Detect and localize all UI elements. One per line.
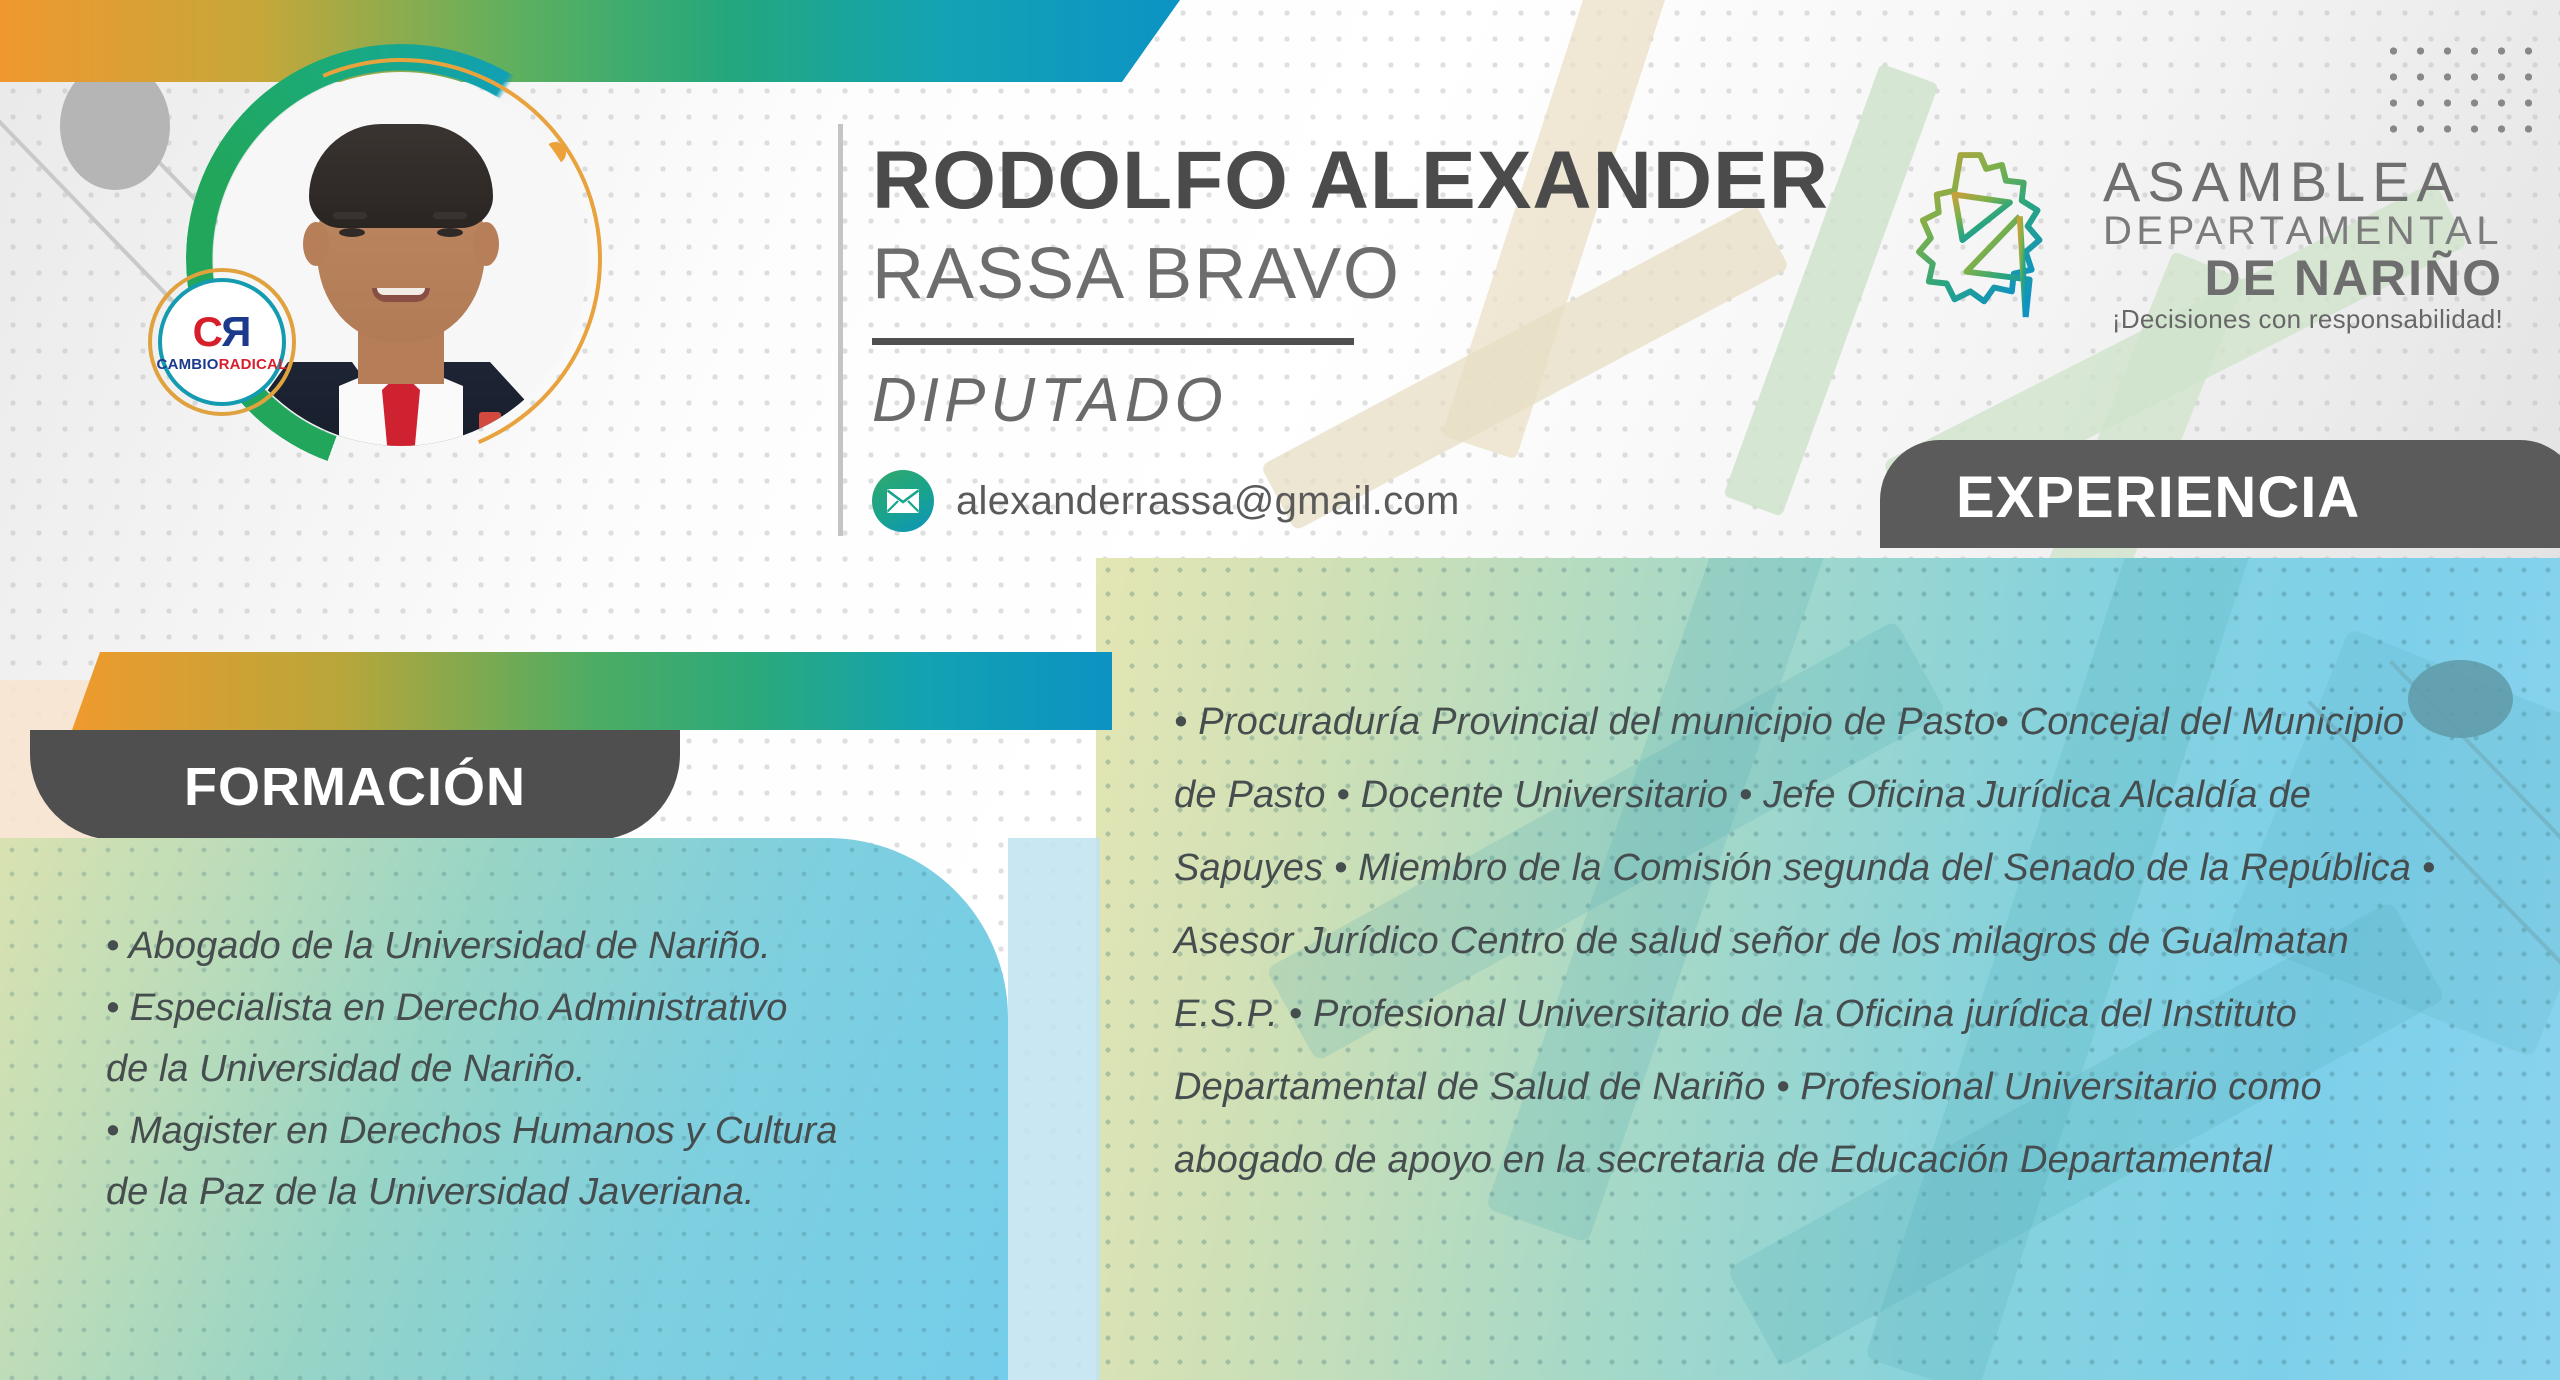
formation-gradient-bar: [72, 652, 1112, 730]
page-title-last-names: RASSA BRAVO: [872, 238, 1401, 310]
asamblea-line-2: DEPARTAMENTAL: [2103, 210, 2503, 252]
formation-line: • Magister en Derechos Humanos y Cultura: [106, 1101, 986, 1163]
vertical-divider: [838, 124, 843, 536]
formation-line: de la Universidad de Nariño.: [106, 1039, 986, 1101]
asamblea-line-1: ASAMBLEA: [2103, 155, 2503, 210]
formation-header: FORMACIÓN: [30, 730, 680, 840]
formation-side-strip: [1008, 838, 1100, 1380]
avatar-eye-right: [437, 228, 463, 237]
avatar-lapel-pin: [479, 412, 501, 430]
avatar-brow-left: [333, 212, 367, 219]
formation-line: • Abogado de la Universidad de Nariño.: [106, 916, 986, 978]
asamblea-wordmark: ASAMBLEA DEPARTAMENTAL DE NARIÑO ¡Decisi…: [2103, 149, 2503, 336]
formation-line: • Especialista en Derecho Administrativo: [106, 978, 986, 1040]
avatar-ear-left: [303, 222, 329, 266]
title-underline-rule: [872, 338, 1354, 345]
experience-title: EXPERIENCIA: [1956, 464, 2360, 531]
formation-text: • Abogado de la Universidad de Nariño. •…: [106, 916, 986, 1224]
formation-panel: • Abogado de la Universidad de Nariño. •…: [0, 838, 1008, 1380]
party-logo-badge: CR CAMBIORADICAL: [148, 268, 296, 416]
experience-header: EXPERIENCIA: [1880, 440, 2560, 548]
email-row[interactable]: alexanderrassa@gmail.com: [872, 470, 1460, 532]
badge-wordmark: CAMBIORADICAL: [148, 356, 296, 373]
experience-text: • Procuraduría Provincial del municipio …: [1174, 686, 2454, 1197]
avatar-teeth: [377, 288, 425, 295]
badge-word-cambio: CAMBIO: [157, 356, 219, 373]
asamblea-mark-icon: [1915, 142, 2083, 342]
badge-word-radical: RADICAL: [219, 356, 288, 373]
page-title-first-names: RODOLFO ALEXANDER: [872, 140, 1829, 222]
badge-monogram: CR: [148, 308, 296, 356]
avatar-eye-left: [339, 228, 365, 237]
avatar-brow-right: [433, 212, 467, 219]
formation-line: de la Paz de la Universidad Javeriana.: [106, 1162, 986, 1224]
formation-title: FORMACIÓN: [30, 756, 680, 818]
profile-card: CR CAMBIORADICAL RODOLFO ALEXANDER RASSA…: [0, 0, 2560, 1380]
asamblea-line-3: DE NARIÑO: [2103, 252, 2503, 305]
decor-ellipse-teal: [2408, 660, 2513, 738]
badge-monogram-r: R: [221, 308, 251, 356]
email-address[interactable]: alexanderrassa@gmail.com: [956, 479, 1460, 524]
avatar-ear-right: [473, 222, 499, 266]
experience-panel: • Procuraduría Provincial del municipio …: [1096, 558, 2560, 1380]
asamblea-slogan: ¡Decisiones con responsabilidad!: [2103, 304, 2503, 335]
envelope-icon: [872, 470, 934, 532]
badge-monogram-c: C: [193, 308, 221, 355]
asamblea-logo: ASAMBLEA DEPARTAMENTAL DE NARIÑO ¡Decisi…: [1915, 142, 2503, 342]
role-label: DIPUTADO: [872, 370, 1228, 432]
decor-dot-grid-dark: [2380, 38, 2550, 150]
